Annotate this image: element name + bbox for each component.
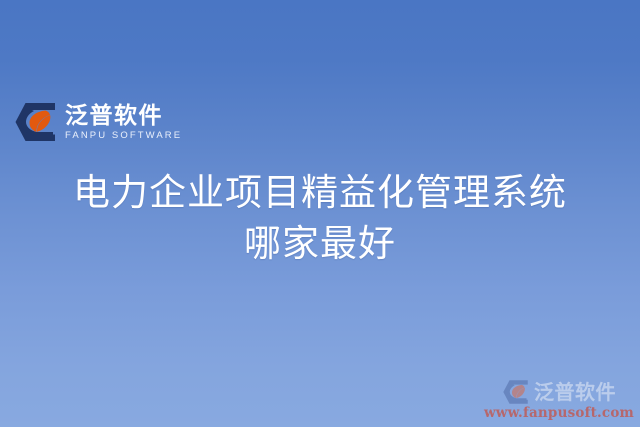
headline: 电力企业项目精益化管理系统 哪家最好 [0,167,640,269]
headline-line-2: 哪家最好 [0,218,640,269]
watermark: 泛普软件 www.fanpusoft.com [486,379,632,421]
promo-banner: 泛普软件 FANPU SOFTWARE 电力企业项目精益化管理系统 哪家最好 泛… [0,0,640,427]
watermark-url: www.fanpusoft.com [484,406,634,421]
headline-line-1: 电力企业项目精益化管理系统 [0,167,640,218]
brand-logo: 泛普软件 FANPU SOFTWARE [14,101,182,143]
brand-name-cn: 泛普软件 [65,104,182,129]
watermark-logo-row: 泛普软件 [502,379,616,405]
fanpu-shield-flame-logo-icon [14,101,58,143]
watermark-name-cn: 泛普软件 [534,382,616,403]
brand-wordmark: 泛普软件 FANPU SOFTWARE [65,104,182,140]
brand-name-en: FANPU SOFTWARE [65,131,182,141]
fanpu-shield-flame-watermark-icon [502,379,530,405]
